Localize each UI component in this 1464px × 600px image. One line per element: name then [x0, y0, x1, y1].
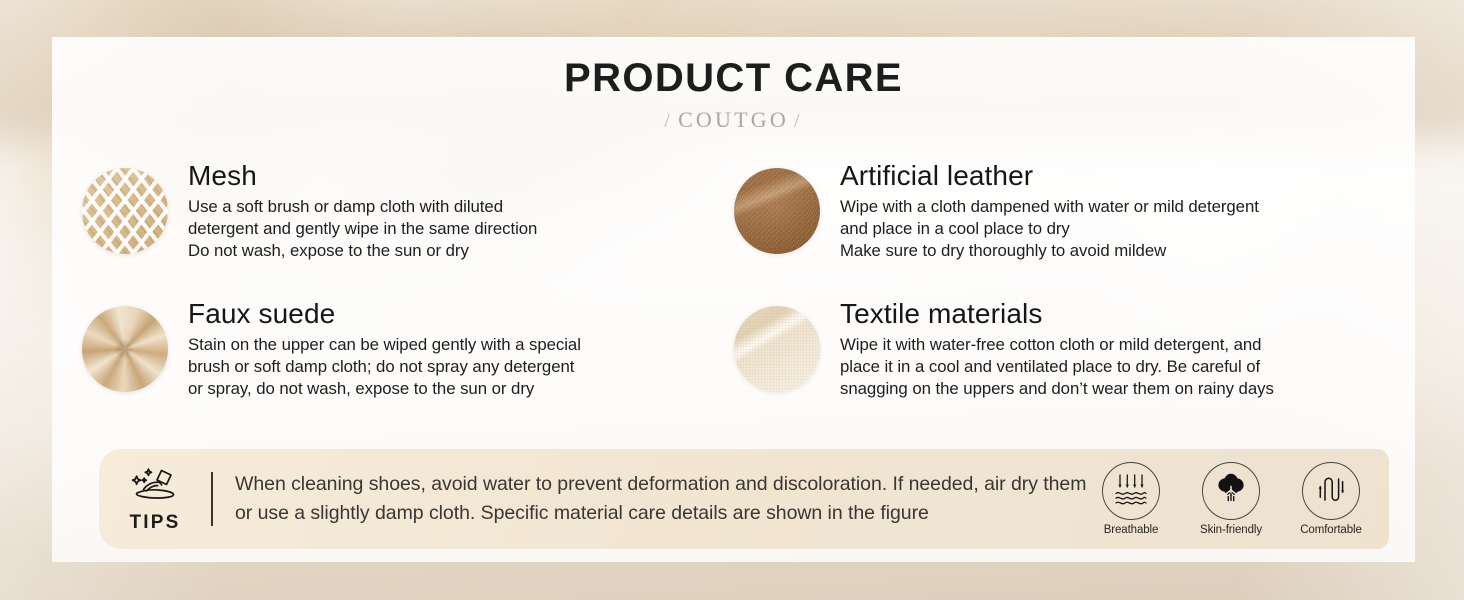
material-card-artificial-leather: Artificial leather Wipe with a cloth dam… — [734, 155, 1382, 293]
header: PRODUCT CARE /COUTGO/ — [52, 56, 1415, 133]
feature-badge-comfortable: Comfortable — [1295, 462, 1367, 536]
material-desc-line: Make sure to dry thoroughly to avoid mil… — [840, 240, 1259, 262]
material-card-faux-suede: Faux suede Stain on the upper can be wip… — [82, 293, 734, 423]
slash-right-icon: / — [789, 110, 808, 132]
tips-strip: TIPS When cleaning shoes, avoid water to… — [99, 449, 1389, 549]
material-desc-artificial-leather: Wipe with a cloth dampened with water or… — [840, 196, 1259, 261]
tips-divider — [211, 472, 213, 526]
tips-line: When cleaning shoes, avoid water to prev… — [235, 470, 1095, 499]
cotton-boll-icon — [1214, 472, 1248, 511]
tips-line: or use a slightly damp cloth. Specific m… — [235, 499, 1095, 528]
feature-badge-skin-friendly: Skin-friendly — [1195, 462, 1267, 536]
material-desc-faux-suede: Stain on the upper can be wiped gently w… — [188, 334, 581, 399]
mesh-fabric-swatch — [82, 168, 168, 254]
feature-badges: Breathable — [1095, 462, 1389, 536]
breathable-airflow-icon — [1113, 472, 1149, 511]
page-title: PRODUCT CARE — [52, 56, 1415, 101]
brand-name: COUTGO — [678, 107, 789, 132]
material-card-mesh: Mesh Use a soft brush or damp cloth with… — [82, 155, 734, 293]
cushion-spring-icon — [1314, 472, 1348, 511]
brand-subtitle: /COUTGO/ — [52, 107, 1415, 133]
material-desc-line: place it in a cool and ventilated place … — [840, 356, 1274, 378]
slash-left-icon: / — [659, 110, 678, 132]
material-desc-line: Use a soft brush or damp cloth with dilu… — [188, 196, 537, 218]
material-desc-mesh: Use a soft brush or damp cloth with dilu… — [188, 196, 537, 261]
suede-swatch — [82, 306, 168, 392]
feature-label-skin-friendly: Skin-friendly — [1200, 524, 1262, 536]
breathable-icon-circle — [1102, 462, 1160, 520]
material-title-textile-materials: Textile materials — [840, 298, 1274, 329]
comfortable-icon-circle — [1302, 462, 1360, 520]
material-desc-line: snagging on the uppers and don’t wear th… — [840, 378, 1274, 400]
material-desc-line: Do not wash, expose to the sun or dry — [188, 240, 537, 262]
feature-label-comfortable: Comfortable — [1300, 524, 1362, 536]
material-desc-line: detergent and gently wipe in the same di… — [188, 218, 537, 240]
material-desc-line: Wipe it with water-free cotton cloth or … — [840, 334, 1274, 356]
material-desc-line: or spray, do not wash, expose to the sun… — [188, 378, 581, 400]
material-title-faux-suede: Faux suede — [188, 298, 581, 329]
textile-swatch — [734, 306, 820, 392]
tips-text: When cleaning shoes, avoid water to prev… — [235, 470, 1095, 528]
cleaning-cloth-sparkle-icon — [128, 466, 182, 511]
material-desc-line: brush or soft damp cloth; do not spray a… — [188, 356, 581, 378]
content-panel: PRODUCT CARE /COUTGO/ Mesh Use a soft br… — [52, 37, 1415, 562]
material-care-grid: Mesh Use a soft brush or damp cloth with… — [82, 155, 1382, 423]
feature-label-breathable: Breathable — [1104, 524, 1159, 536]
tips-badge: TIPS — [99, 464, 211, 534]
tips-label: TIPS — [129, 512, 180, 534]
material-desc-line: Stain on the upper can be wiped gently w… — [188, 334, 581, 356]
material-title-artificial-leather: Artificial leather — [840, 160, 1259, 191]
material-desc-textile-materials: Wipe it with water-free cotton cloth or … — [840, 334, 1274, 399]
leather-swatch — [734, 168, 820, 254]
skin-friendly-icon-circle — [1202, 462, 1260, 520]
material-desc-line: Wipe with a cloth dampened with water or… — [840, 196, 1259, 218]
material-desc-line: and place in a cool place to dry — [840, 218, 1259, 240]
material-card-textile-materials: Textile materials Wipe it with water-fre… — [734, 293, 1382, 423]
material-title-mesh: Mesh — [188, 160, 537, 191]
feature-badge-breathable: Breathable — [1095, 462, 1167, 536]
